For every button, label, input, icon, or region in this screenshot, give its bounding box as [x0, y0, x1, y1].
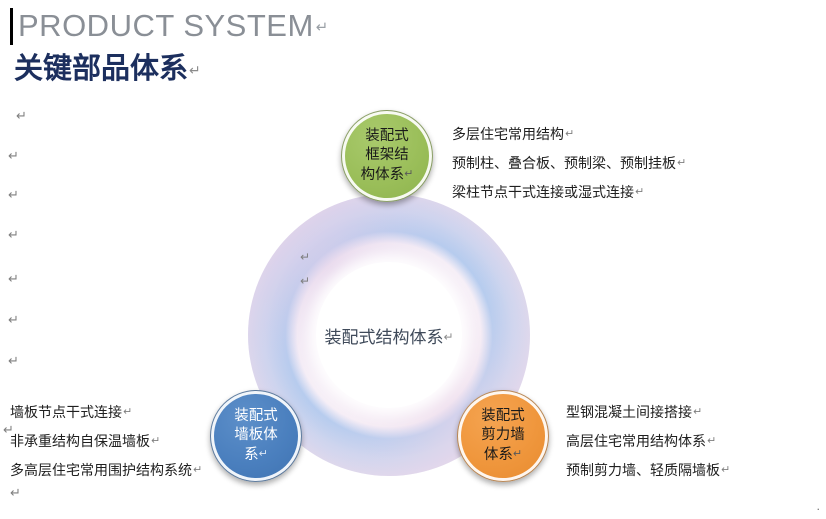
node-label-line: 墙板体 [234, 427, 278, 443]
annotation-line: 高层住宅常用结构体系↵ [566, 427, 730, 456]
node-label-line: 框架结 [365, 147, 409, 163]
document-end-mark: . [817, 500, 821, 513]
paragraph-mark-icon: ↵ [635, 185, 644, 198]
annotation-line-text: 预制剪力墙、轻质隔墙板 [566, 463, 720, 479]
paragraph-mark-icon: ↵ [259, 447, 268, 460]
annotation-line-text: 非承重结构自保温墙板 [10, 434, 150, 450]
paragraph-mark-icon: ↵ [16, 110, 27, 123]
annotation-line-text: 梁柱节点干式连接或湿式连接 [452, 185, 634, 201]
annotation-line: 非承重结构自保温墙板↵ [10, 427, 202, 456]
annotation-line-text: 多高层住宅常用围护结构系统 [10, 463, 192, 479]
paragraph-mark-icon: ↵ [565, 127, 574, 140]
node-wall-panel-system[interactable]: 装配式 墙板体 系↵ [210, 390, 302, 482]
paragraph-mark-icon: ↵ [721, 463, 730, 476]
annotation-shear-wall-system: 型钢混凝土间接搭接↵ 高层住宅常用结构体系↵ 预制剪力墙、轻质隔墙板↵ [566, 398, 730, 485]
donut-center-label-text: 装配式结构体系 [324, 328, 443, 348]
node-shear-wall-system-label: 装配式 剪力墙 体系↵ [475, 407, 531, 464]
node-label-line: 系 [244, 447, 259, 463]
page-title-english: PRODUCT SYSTEM↵ [18, 8, 329, 44]
annotation-line: 多高层住宅常用围护结构系统↵ [10, 456, 202, 485]
paragraph-mark-icon: ↵ [8, 273, 19, 286]
paragraph-mark-icon: ↵ [8, 150, 19, 163]
paragraph-mark-icon: ↵ [443, 330, 453, 344]
node-label-line: 装配式 [365, 128, 409, 144]
annotation-line: 型钢混凝土间接搭接↵ [566, 398, 730, 427]
node-shear-wall-system[interactable]: 装配式 剪力墙 体系↵ [457, 390, 549, 482]
annotation-frame-system: 多层住宅常用结构↵ 预制柱、叠合板、预制梁、预制挂板↵ 梁柱节点干式连接或湿式连… [452, 120, 686, 207]
paragraph-mark-icon: ↵ [316, 19, 329, 36]
node-label-line: 装配式 [481, 408, 525, 424]
paragraph-mark-icon: ↵ [300, 250, 310, 264]
annotation-line: 预制剪力墙、轻质隔墙板↵ [566, 456, 730, 485]
node-wall-panel-system-label: 装配式 墙板体 系↵ [228, 407, 284, 464]
paragraph-mark-icon: ↵ [8, 229, 19, 242]
paragraph-mark-icon: ↵ [123, 405, 132, 418]
annotation-line: 预制柱、叠合板、预制梁、预制挂板↵ [452, 149, 686, 178]
node-label-line: 构体系 [361, 167, 405, 183]
paragraph-mark-icon: ↵ [193, 463, 202, 476]
node-label-line: 装配式 [234, 408, 278, 424]
donut-center-label: 装配式结构体系↵ [248, 323, 530, 348]
annotation-line-text: 多层住宅常用结构 [452, 127, 564, 143]
node-label-line: 剪力墙 [481, 427, 525, 443]
node-label-line: 体系 [484, 447, 513, 463]
annotation-line: 梁柱节点干式连接或湿式连接↵ [452, 178, 686, 207]
paragraph-mark-icon: ↵ [300, 274, 310, 288]
node-frame-system-label: 装配式 框架结 构体系↵ [355, 127, 420, 184]
page-title-english-text: PRODUCT SYSTEM [18, 8, 314, 43]
paragraph-mark-icon: ↵ [404, 167, 413, 180]
paragraph-mark-icon: ↵ [513, 447, 522, 460]
annotation-wall-panel-system: 墙板节点干式连接↵ 非承重结构自保温墙板↵ 多高层住宅常用围护结构系统↵ [10, 398, 202, 485]
paragraph-mark-icon: ↵ [10, 487, 21, 500]
annotation-line-text: 墙板节点干式连接 [10, 405, 122, 421]
paragraph-mark-icon: ↵ [8, 189, 19, 202]
paragraph-mark-icon: ↵ [151, 434, 160, 447]
paragraph-mark-icon: ↵ [693, 405, 702, 418]
paragraph-mark-icon: ↵ [677, 156, 686, 169]
annotation-line: 墙板节点干式连接↵ [10, 398, 202, 427]
paragraph-mark-icon: ↵ [8, 355, 19, 368]
annotation-line-text: 预制柱、叠合板、预制梁、预制挂板 [452, 156, 676, 172]
annotation-line-text: 高层住宅常用结构体系 [566, 434, 706, 450]
paragraph-mark-icon: ↵ [8, 314, 19, 327]
paragraph-mark-icon: ↵ [189, 63, 201, 79]
annotation-line-text: 型钢混凝土间接搭接 [566, 405, 692, 421]
node-frame-system[interactable]: 装配式 框架结 构体系↵ [341, 110, 433, 202]
annotation-line: 多层住宅常用结构↵ [452, 120, 686, 149]
paragraph-mark-icon: ↵ [707, 434, 716, 447]
